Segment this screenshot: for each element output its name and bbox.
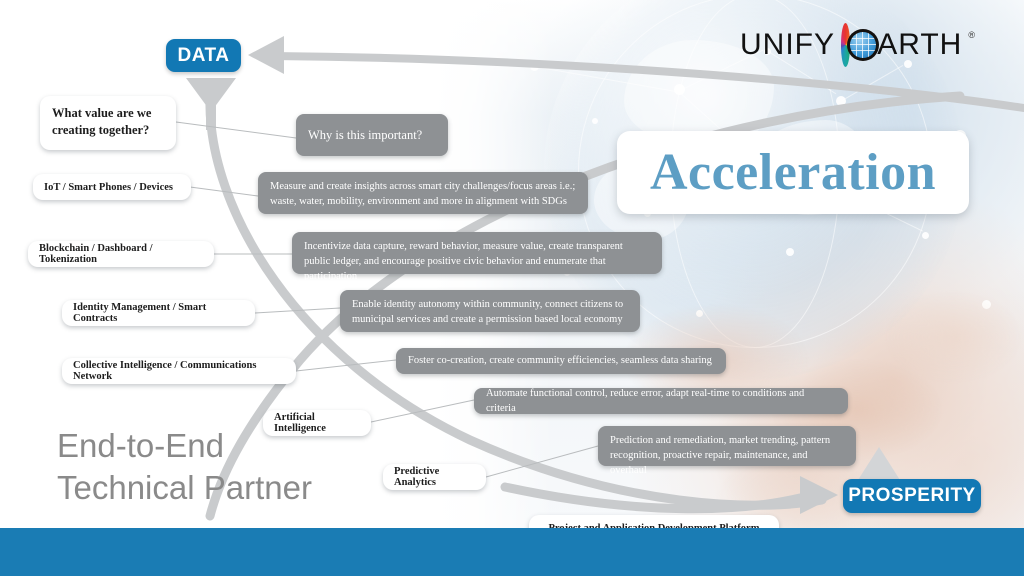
gray-box-why[interactable]: Why is this important? [296,114,448,156]
registered-mark: ® [968,30,975,40]
badge-prosperity[interactable]: PROSPERITY [843,479,981,513]
gray-box-measure[interactable]: Measure and create insights across smart… [258,172,588,214]
tagline: End-to-End Technical Partner [57,425,377,508]
gray-box-enable[interactable]: Enable identity autonomy within communit… [340,290,640,332]
card-identity[interactable]: Identity Management / Smart Contracts [62,300,255,326]
card-value-question[interactable]: What value are we creating together? [40,96,176,150]
brand-logo: UNIFY EARTH ® [740,22,975,68]
slide-canvas: UNIFY EARTH ® DATA PROSPERITY Accelerati… [0,0,1024,576]
card-iot[interactable]: IoT / Smart Phones / Devices [33,174,191,200]
tagline-line-2: Technical Partner [57,467,377,509]
gray-box-incentivize[interactable]: Incentivize data capture, reward behavio… [292,232,662,274]
page-title: Acceleration [650,143,936,202]
arrowhead-data [248,36,284,74]
gray-box-prediction[interactable]: Prediction and remediation, market trend… [598,426,856,466]
card-predictive[interactable]: Predictive Analytics [383,464,486,490]
headline-card: Acceleration [617,131,969,214]
card-blockchain[interactable]: Blockchain / Dashboard / Tokenization [28,241,214,267]
connector-line [176,122,296,138]
brand-word-unify: UNIFY [740,28,835,62]
arrowhead-up [858,447,900,480]
card-collective[interactable]: Collective Intelligence / Communications… [62,358,296,384]
badge-data[interactable]: DATA [166,39,241,72]
gray-box-foster[interactable]: Foster co-creation, create community eff… [396,348,726,374]
gray-box-automate[interactable]: Automate functional control, reduce erro… [474,388,848,414]
globe-gear-logo-icon [841,23,850,67]
globe-icon [850,32,876,58]
arrowhead-prosperity [800,476,838,514]
footer-band [0,528,1024,576]
tagline-line-1: End-to-End [57,425,377,467]
